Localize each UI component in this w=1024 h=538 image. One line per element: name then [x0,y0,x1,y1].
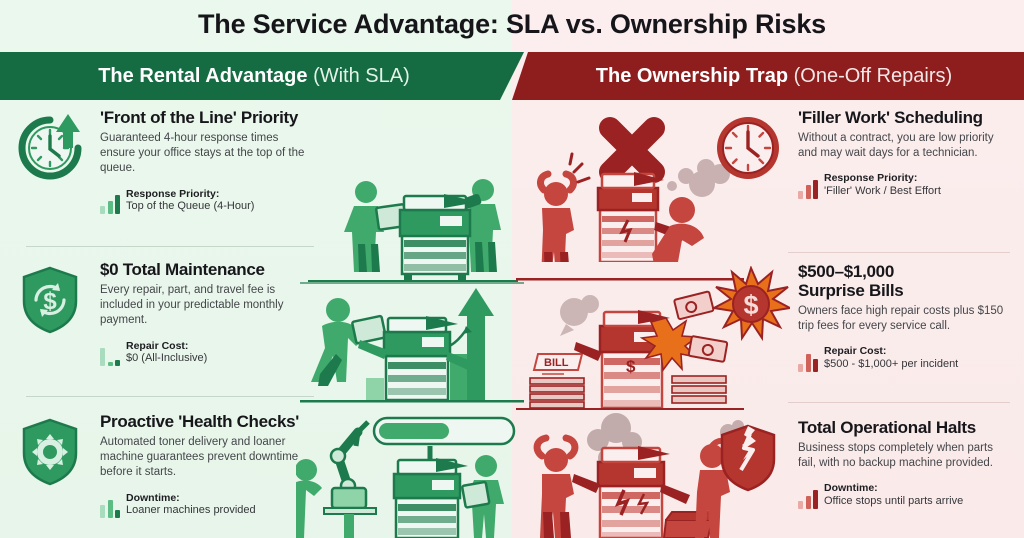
right-divider-1 [788,252,1010,253]
right-feature-2-heading-line2: Surprise Bills [798,281,1012,300]
left-divider-1 [26,246,314,247]
banner-left-rental-advantage: The Rental Advantage (With SLA) [0,52,524,100]
right-feature-3-heading: Total Operational Halts [798,418,1012,437]
right-feature-2-metric-value: $500 - $1,000+ per incident [824,358,958,371]
right-divider-2 [788,402,1010,403]
banner-left-main: The Rental Advantage [98,65,307,87]
right-feature-1-body: 'Filler Work' Scheduling Without a contr… [798,108,1012,199]
right-feature-1-metric-label: Response Priority: [824,172,941,185]
bar-chart-icon [798,179,818,199]
right-feature-surprise-bills: $ $500–$1,000 Surprise Bills Owners face… [798,262,1012,372]
right-feature-1-paragraph: Without a contract, you are low priority… [798,131,1012,161]
left-feature-2-heading: $0 Total Maintenance [100,260,314,279]
left-feature-2-metric-value: $0 (All-Inclusive) [126,352,207,365]
bar-chart-icon [798,489,818,509]
left-feature-1-paragraph: Guaranteed 4-hour response times ensure … [100,131,314,177]
left-feature-3-heading: Proactive 'Health Checks' [100,412,314,431]
left-divider-2 [26,396,314,397]
illustration-robot-arm-progress-bar-copier-technicians [296,412,524,538]
left-feature-1-body: 'Front of the Line' Priority Guaranteed … [100,108,314,214]
bar-chart-icon [100,498,120,518]
banner: The Rental Advantage (With SLA) The Owne… [0,52,1024,100]
left-feature-1-heading: 'Front of the Line' Priority [100,108,314,127]
svg-text:$: $ [626,357,636,376]
left-feature-3-body: Proactive 'Health Checks' Automated tone… [100,412,314,518]
right-feature-2-metric: Repair Cost: $500 - $1,000+ per incident [798,345,1012,371]
cracked-shield-icon [712,422,784,494]
right-feature-2-metric-label: Repair Cost: [824,345,958,358]
left-feature-2-metric-label: Repair Cost: [126,340,207,353]
right-feature-3-paragraph: Business stops completely when parts fai… [798,441,1012,471]
left-feature-2-body: $0 Total Maintenance Every repair, part,… [100,260,314,366]
left-feature-proactive-health-checks: Proactive 'Health Checks' Automated tone… [14,412,314,518]
illustration-exploding-copier-money-bills: BILL [516,278,744,410]
right-feature-1-metric-value: 'Filler' Work / Best Effort [824,185,941,198]
page-title: The Service Advantage: SLA vs. Ownership… [0,2,1024,46]
right-feature-1-metric: Response Priority: 'Filler' Work / Best … [798,172,1012,198]
right-feature-3-metric-value: Office stops until parts arrive [824,495,963,508]
right-feature-3-metric-label: Downtime: [824,482,963,495]
red-clock-icon [712,112,784,184]
banner-right-text: The Ownership Trap (One-Off Repairs) [596,65,952,88]
banner-right-ownership-trap: The Ownership Trap (One-Off Repairs) [512,52,1024,100]
right-feature-1-heading: 'Filler Work' Scheduling [798,108,1012,127]
svg-text:BILL: BILL [544,357,569,369]
right-feature-3-metric: Downtime: Office stops until parts arriv… [798,482,1012,508]
left-feature-front-of-the-line-priority: 'Front of the Line' Priority Guaranteed … [14,108,314,214]
left-column: 'Front of the Line' Priority Guaranteed … [14,100,314,538]
left-feature-1-metric-label: Response Priority: [126,188,254,201]
right-feature-3-body: Total Operational Halts Business stops c… [798,418,1012,509]
left-feature-2-metric: Repair Cost: $0 (All-Inclusive) [100,340,314,366]
banner-right-main: The Ownership Trap [596,65,788,87]
svg-text:$: $ [43,288,57,315]
shield-dollar-refresh-icon: $ [14,264,86,336]
right-feature-2-heading-line1: $500–$1,000 [798,262,1012,281]
shield-gear-icon [14,416,86,488]
left-feature-3-metric-label: Downtime: [126,492,256,505]
illustration-red-x-frustrated-users-broken-copier [520,112,735,262]
banner-right-sub: (One-Off Repairs) [788,65,952,87]
bar-chart-icon [798,352,818,372]
banner-left-text: The Rental Advantage (With SLA) [98,65,410,88]
illustration-smoking-copier-stressed-office-workers [516,412,744,538]
left-feature-3-metric: Downtime: Loaner machines provided [100,492,314,518]
clock-arrow-icon [14,112,86,184]
right-column: 'Filler Work' Scheduling Without a contr… [798,100,1012,538]
bar-chart-icon [100,346,120,366]
bar-chart-icon [100,194,120,214]
left-feature-2-paragraph: Every repair, part, and travel fee is in… [100,283,314,329]
svg-text:$: $ [743,290,758,320]
right-feature-total-operational-halts: Total Operational Halts Business stops c… [798,418,1012,509]
dollar-burst-icon: $ [712,266,784,338]
illustration-two-technicians-with-copier [308,152,518,282]
right-feature-2-body: $500–$1,000 Surprise Bills Owners face h… [798,262,1012,372]
infographic-canvas: BILL [0,0,1024,538]
banner-left-sub: (With SLA) [308,65,410,87]
left-feature-3-metric-value: Loaner machines provided [126,504,256,517]
left-feature-3-paragraph: Automated toner delivery and loaner mach… [100,435,314,481]
left-feature-zero-total-maintenance: $ $0 Total Maintenance Every repair, par… [14,260,314,366]
illustration-technician-laptop-copier-growth-arrow [300,282,524,408]
right-feature-filler-work-scheduling: 'Filler Work' Scheduling Without a contr… [798,108,1012,199]
right-feature-2-paragraph: Owners face high repair costs plus $150 … [798,304,1012,334]
left-feature-1-metric-value: Top of the Queue (4-Hour) [126,200,254,213]
left-feature-1-metric: Response Priority: Top of the Queue (4-H… [100,188,314,214]
